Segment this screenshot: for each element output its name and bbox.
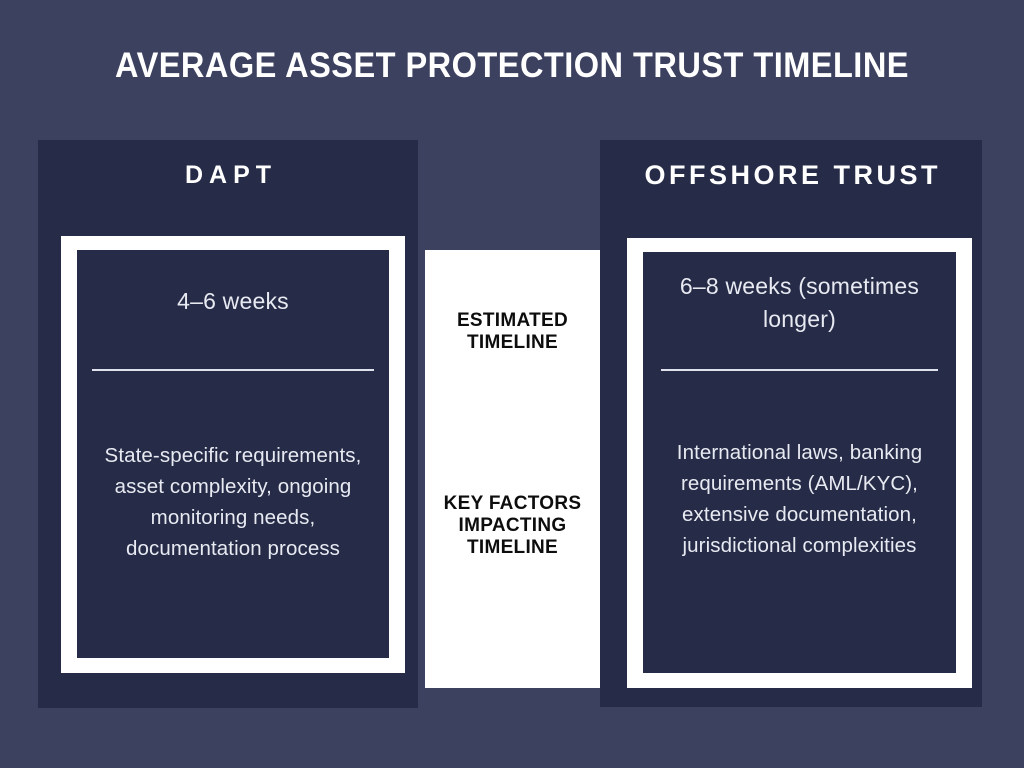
card-divider <box>661 369 938 371</box>
card-dapt: 4–6 weeks State-specific requirements, a… <box>61 236 405 673</box>
page-title: Average Asset Protection Trust Timeline <box>36 46 988 86</box>
column-heading-offshore-trust: OFFSHORE TRUST <box>600 160 982 191</box>
offshore-estimated-timeline-value: 6–8 weeks (sometimes longer) <box>657 270 942 337</box>
center-label-panel: ESTIMATED TIMELINE KEY FACTORS IMPACTING… <box>425 250 600 688</box>
card-divider <box>92 369 374 371</box>
offshore-key-factors-value: International laws, banking requirements… <box>653 437 946 562</box>
card-offshore-trust: 6–8 weeks (sometimes longer) Internation… <box>627 238 972 688</box>
column-dapt: DAPT 4–6 weeks State-specific requiremen… <box>38 140 418 708</box>
row-label-key-factors: KEY FACTORS IMPACTING TIMELINE <box>425 493 600 560</box>
row-label-estimated-timeline: ESTIMATED TIMELINE <box>425 310 600 354</box>
column-heading-dapt: DAPT <box>38 161 418 190</box>
card-dapt-inner: 4–6 weeks State-specific requirements, a… <box>77 250 389 658</box>
dapt-key-factors-value: State-specific requirements, asset compl… <box>87 440 379 565</box>
infographic-root: Average Asset Protection Trust Timeline … <box>0 0 1024 768</box>
column-offshore-trust: OFFSHORE TRUST 6–8 weeks (sometimes long… <box>600 140 982 707</box>
card-offshore-trust-inner: 6–8 weeks (sometimes longer) Internation… <box>643 252 956 673</box>
dapt-estimated-timeline-value: 4–6 weeks <box>91 285 375 318</box>
